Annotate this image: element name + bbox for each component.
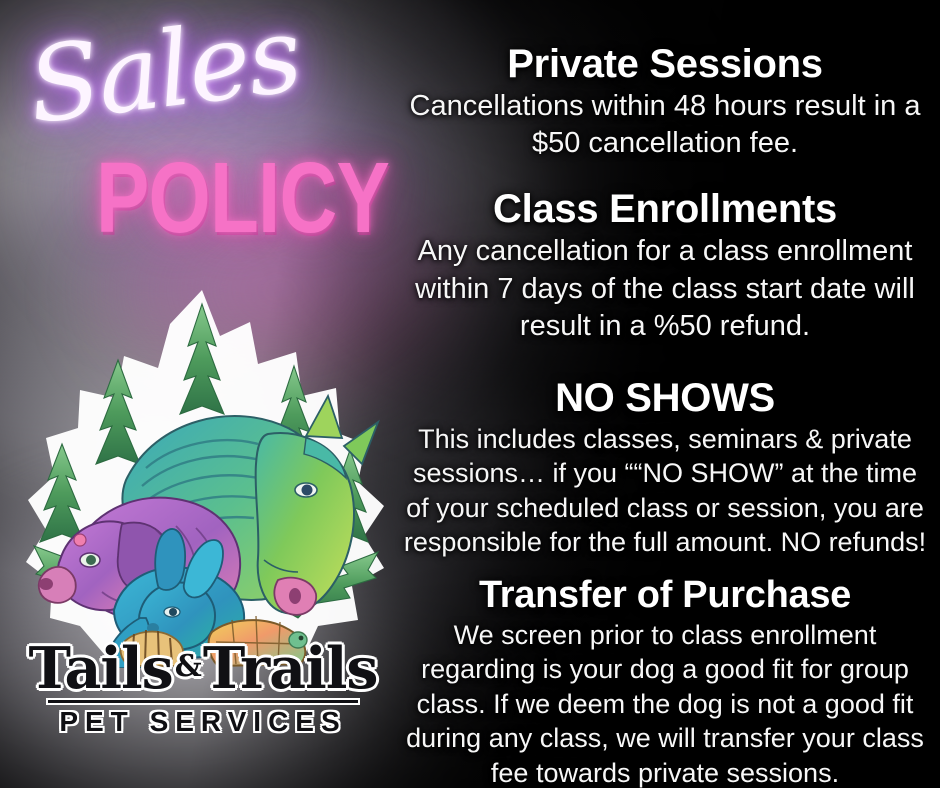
left-column: Sales POLICY (0, 0, 430, 788)
policy-text-column: Private Sessions Cancellations within 48… (398, 42, 932, 788)
logo-primary-line: Tails&Trails (28, 640, 378, 698)
policy-display-title: POLICY (96, 152, 389, 244)
spacer-1 (398, 167, 932, 187)
spacer-3 (398, 564, 932, 574)
spacer-2 (398, 350, 932, 376)
body-transfer-of-purchase: We screen prior to class enrollment rega… (398, 618, 932, 788)
brand-logo: Tails&Trails PET SERVICES (28, 640, 378, 738)
heading-no-shows: NO SHOWS (398, 376, 932, 421)
logo-word-trails: Trails (203, 635, 378, 702)
sales-policy-poster: Sales POLICY (0, 0, 940, 788)
logo-ampersand: & (173, 649, 203, 684)
animal-illustration (6, 268, 406, 668)
heading-transfer-of-purchase: Transfer of Purchase (398, 574, 932, 617)
section-transfer-of-purchase: Transfer of Purchase We screen prior to … (398, 574, 932, 788)
body-private-sessions: Cancellations within 48 hours result in … (398, 88, 932, 163)
section-no-shows: NO SHOWS This includes classes, seminars… (398, 376, 932, 560)
logo-tagline: PET SERVICES (28, 706, 378, 738)
sales-script-title: Sales (23, 0, 373, 138)
body-class-enrollments: Any cancellation for a class enrollment … (398, 233, 932, 346)
logo-word-tails: Tails (28, 635, 172, 702)
section-private-sessions: Private Sessions Cancellations within 48… (398, 42, 932, 163)
heading-private-sessions: Private Sessions (398, 42, 932, 87)
body-no-shows: This includes classes, seminars & privat… (398, 422, 932, 560)
section-class-enrollments: Class Enrollments Any cancellation for a… (398, 187, 932, 346)
heading-class-enrollments: Class Enrollments (398, 187, 932, 232)
